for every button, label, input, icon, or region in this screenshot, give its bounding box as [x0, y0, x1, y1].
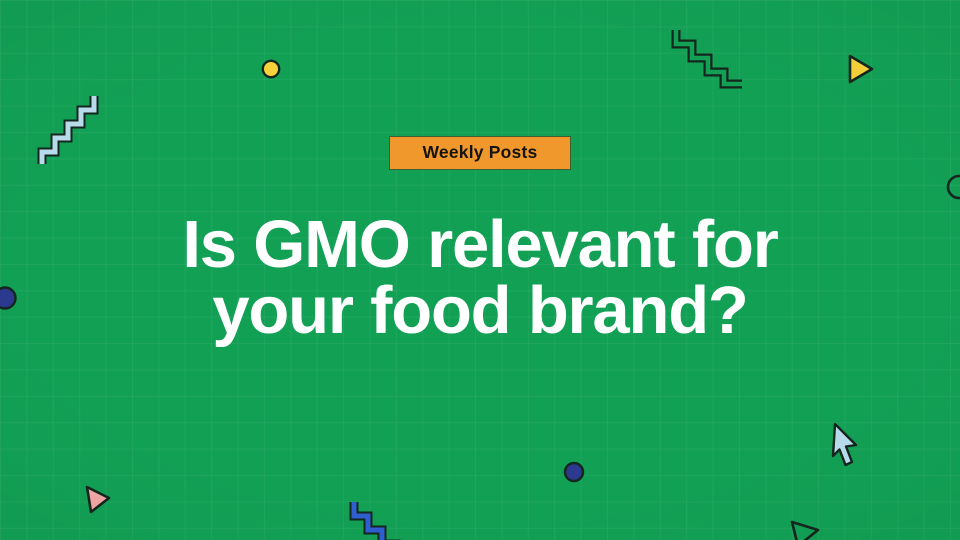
category-badge-label: Weekly Posts	[423, 144, 538, 162]
slide-canvas: Weekly Posts Is GMO relevant for your fo…	[0, 0, 960, 540]
headline-line-2: your food brand?	[100, 278, 860, 344]
headline: Is GMO relevant for your food brand?	[100, 212, 860, 344]
category-badge: Weekly Posts	[389, 136, 571, 170]
content-stack: Weekly Posts Is GMO relevant for your fo…	[0, 0, 960, 540]
headline-line-1: Is GMO relevant for	[100, 212, 860, 278]
